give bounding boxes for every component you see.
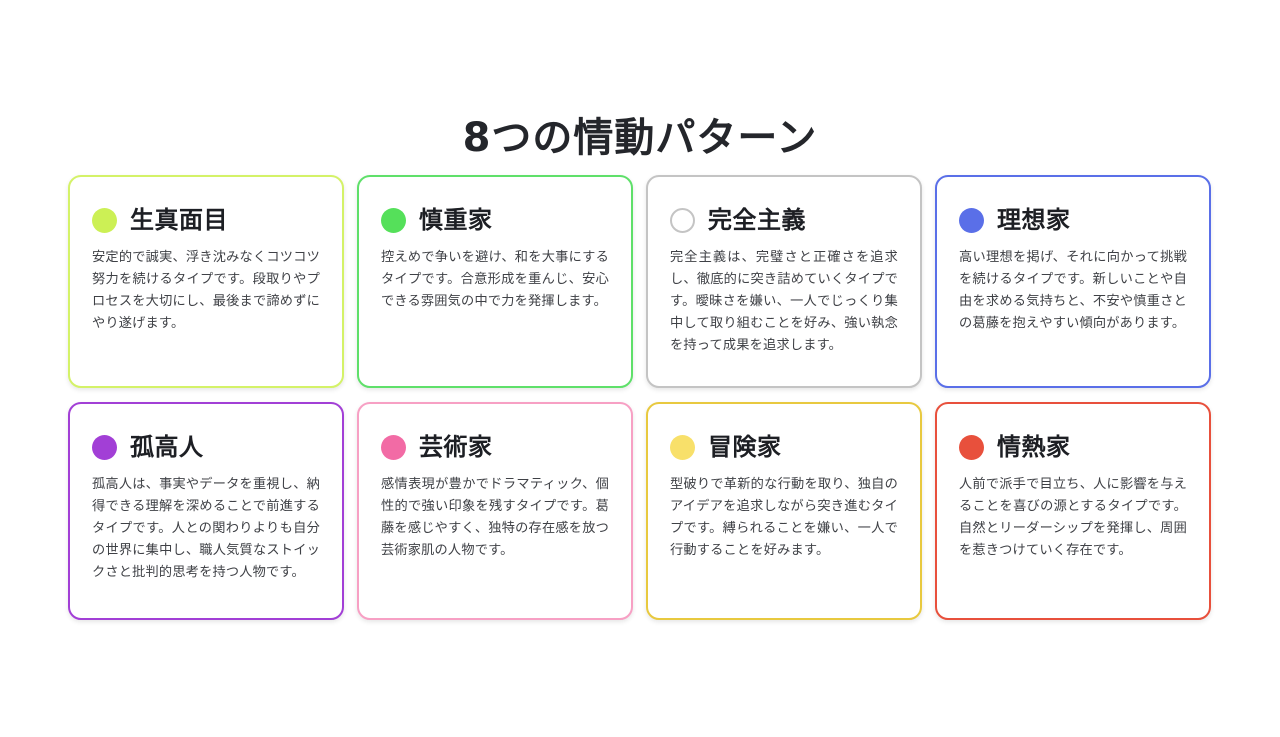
color-dot-icon [381,435,406,460]
card-header: 情熱家 [959,434,1187,460]
card-description: 人前で派手で目立ち、人に影響を与えることを喜びの源とするタイプです。自然とリーダ… [959,474,1187,562]
card-jounetsuka[interactable]: 情熱家 人前で派手で目立ち、人に影響を与えることを喜びの源とするタイプです。自然… [935,402,1211,620]
page-title: 8つの情動パターン [0,105,1280,163]
emotion-pattern-card-grid: 生真面目 安定的で誠実、浮き沈みなくコツコツ努力を続けるタイプです。段取りやプロ… [68,175,1214,620]
card-description: 高い理想を掲げ、それに向かって挑戦を続けるタイプです。新しいことや自由を求める気… [959,247,1187,335]
card-header: 生真面目 [92,207,320,233]
card-kanzenshugi[interactable]: 完全主義 完全主義は、完璧さと正確さを追求し、徹底的に突き詰めていくタイプです。… [646,175,922,388]
card-title: 生真面目 [130,207,228,233]
card-header: 慎重家 [381,207,609,233]
card-header: 理想家 [959,207,1187,233]
card-description: 孤高人は、事実やデータを重視し、納得できる理解を深めることで前進するタイプです。… [92,474,320,584]
card-geijutsuka[interactable]: 芸術家 感情表現が豊かでドラマティック、個性的で強い印象を残すタイプです。葛藤を… [357,402,633,620]
card-title: 情熱家 [997,434,1071,460]
card-description: 安定的で誠実、浮き沈みなくコツコツ努力を続けるタイプです。段取りやプロセスを大切… [92,247,320,335]
color-dot-icon [959,435,984,460]
color-dot-icon [959,208,984,233]
card-header: 完全主義 [670,207,898,233]
color-dot-icon [92,208,117,233]
card-title: 理想家 [997,207,1071,233]
card-title: 冒険家 [708,434,782,460]
card-description: 控えめで争いを避け、和を大事にするタイプです。合意形成を重んじ、安心できる雰囲気… [381,247,609,313]
card-risouka[interactable]: 理想家 高い理想を掲げ、それに向かって挑戦を続けるタイプです。新しいことや自由を… [935,175,1211,388]
page-root: 8つの情動パターン 生真面目 安定的で誠実、浮き沈みなくコツコツ努力を続けるタイ… [0,0,1280,737]
card-kokoujin[interactable]: 孤高人 孤高人は、事実やデータを重視し、納得できる理解を深めることで前進するタイ… [68,402,344,620]
card-header: 孤高人 [92,434,320,460]
card-title: 芸術家 [419,434,493,460]
color-dot-icon [381,208,406,233]
card-boukenka[interactable]: 冒険家 型破りで革新的な行動を取り、独自のアイデアを追求しながら突き進むタイプで… [646,402,922,620]
color-dot-icon [92,435,117,460]
card-description: 完全主義は、完璧さと正確さを追求し、徹底的に突き詰めていくタイプです。曖昧さを嫌… [670,247,898,357]
card-header: 冒険家 [670,434,898,460]
card-description: 型破りで革新的な行動を取り、独自のアイデアを追求しながら突き進むタイプです。縛ら… [670,474,898,562]
card-title: 完全主義 [708,207,806,233]
card-description: 感情表現が豊かでドラマティック、個性的で強い印象を残すタイプです。葛藤を感じやす… [381,474,609,562]
card-title: 慎重家 [419,207,493,233]
card-shinchouka[interactable]: 慎重家 控えめで争いを避け、和を大事にするタイプです。合意形成を重んじ、安心でき… [357,175,633,388]
color-dot-icon [670,435,695,460]
card-title: 孤高人 [130,434,204,460]
card-header: 芸術家 [381,434,609,460]
color-dot-icon [670,208,695,233]
card-seimajime[interactable]: 生真面目 安定的で誠実、浮き沈みなくコツコツ努力を続けるタイプです。段取りやプロ… [68,175,344,388]
